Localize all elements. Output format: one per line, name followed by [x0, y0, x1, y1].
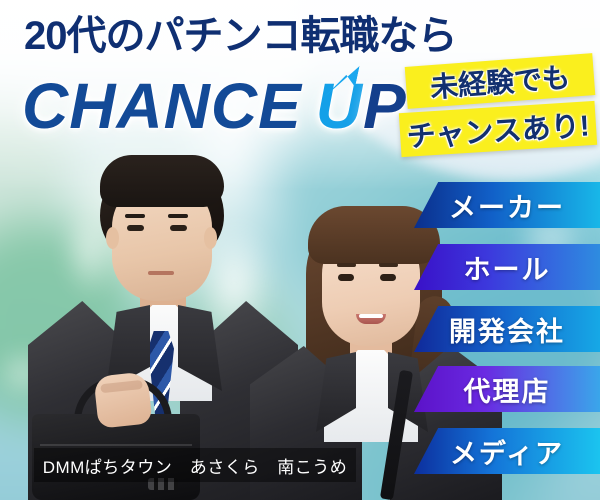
category-button-developer[interactable]: 開発会社 [414, 306, 600, 352]
category-button-agency[interactable]: 代理店 [414, 366, 600, 412]
advertisement-banner[interactable]: 20代のパチンコ転職なら CHANCEUP 未経験でも チャンスあり! メーカー… [0, 0, 600, 500]
woman-eyebrow-right [379, 263, 398, 267]
man-ear-left [106, 227, 119, 249]
category-button-hall[interactable]: ホール [414, 244, 600, 290]
man-eye-left [127, 225, 144, 231]
woman-eye-left [338, 274, 354, 281]
man-mouth [148, 271, 174, 275]
woman-eye-right [380, 274, 396, 281]
man-eyebrow-right [168, 214, 188, 218]
logo-word-chance: CHANCE [22, 70, 302, 142]
briefcase-flap-line [40, 444, 192, 446]
category-button-maker[interactable]: メーカー [414, 182, 600, 228]
headline-text: 20代のパチンコ転職なら [24, 16, 444, 56]
man-eyebrow-left [125, 214, 145, 218]
woman-eyebrow-left [337, 263, 356, 267]
logo-word-up: UP [316, 68, 407, 144]
man-hand [93, 371, 152, 428]
hand-knuckles [100, 380, 143, 393]
caption-bar: DMMぱちタウン あさくら 南こうめ [34, 448, 356, 482]
woman-teeth [359, 314, 383, 318]
man-fringe [100, 155, 224, 207]
man-ear-right [204, 227, 217, 249]
woman-bangs [308, 206, 440, 264]
man-eye-right [170, 225, 187, 231]
category-button-media[interactable]: メディア [414, 428, 600, 474]
chance-up-logo: CHANCEUP [22, 68, 442, 144]
